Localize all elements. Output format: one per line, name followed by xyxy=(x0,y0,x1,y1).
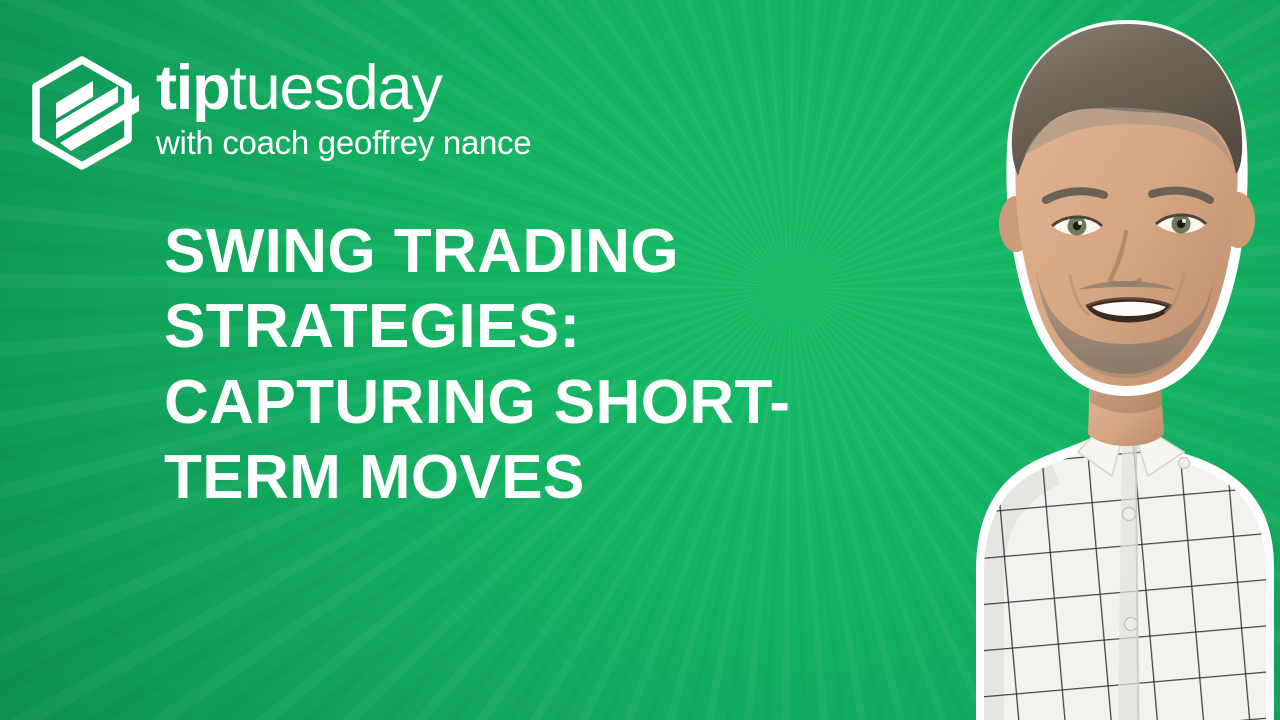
presenter-head xyxy=(999,20,1255,396)
wordmark: tiptuesday xyxy=(156,58,531,118)
brand-lockup: tiptuesday with coach geoffrey nance xyxy=(30,56,531,178)
brand-tagline: with coach geoffrey nance xyxy=(156,124,531,162)
hexagon-ascending-bars-icon xyxy=(30,56,142,178)
headline-block: SWING TRADING STRATEGIES: CAPTURING SHOR… xyxy=(164,214,904,515)
headline-line-3: CAPTURING SHORT- xyxy=(164,365,904,440)
headline-line-4: TERM MOVES xyxy=(164,440,904,515)
headline-line-2: STRATEGIES: xyxy=(164,289,904,364)
slide-canvas: tiptuesday with coach geoffrey nance SWI… xyxy=(0,0,1280,720)
presenter-shirt xyxy=(976,427,1274,720)
headline-line-1: SWING TRADING xyxy=(164,214,904,289)
wordmark-bold: tip xyxy=(156,53,229,123)
wordmark-light: tuesday xyxy=(229,53,441,123)
presenter-portrait xyxy=(864,14,1280,720)
brand-text: tiptuesday with coach geoffrey nance xyxy=(156,56,531,162)
